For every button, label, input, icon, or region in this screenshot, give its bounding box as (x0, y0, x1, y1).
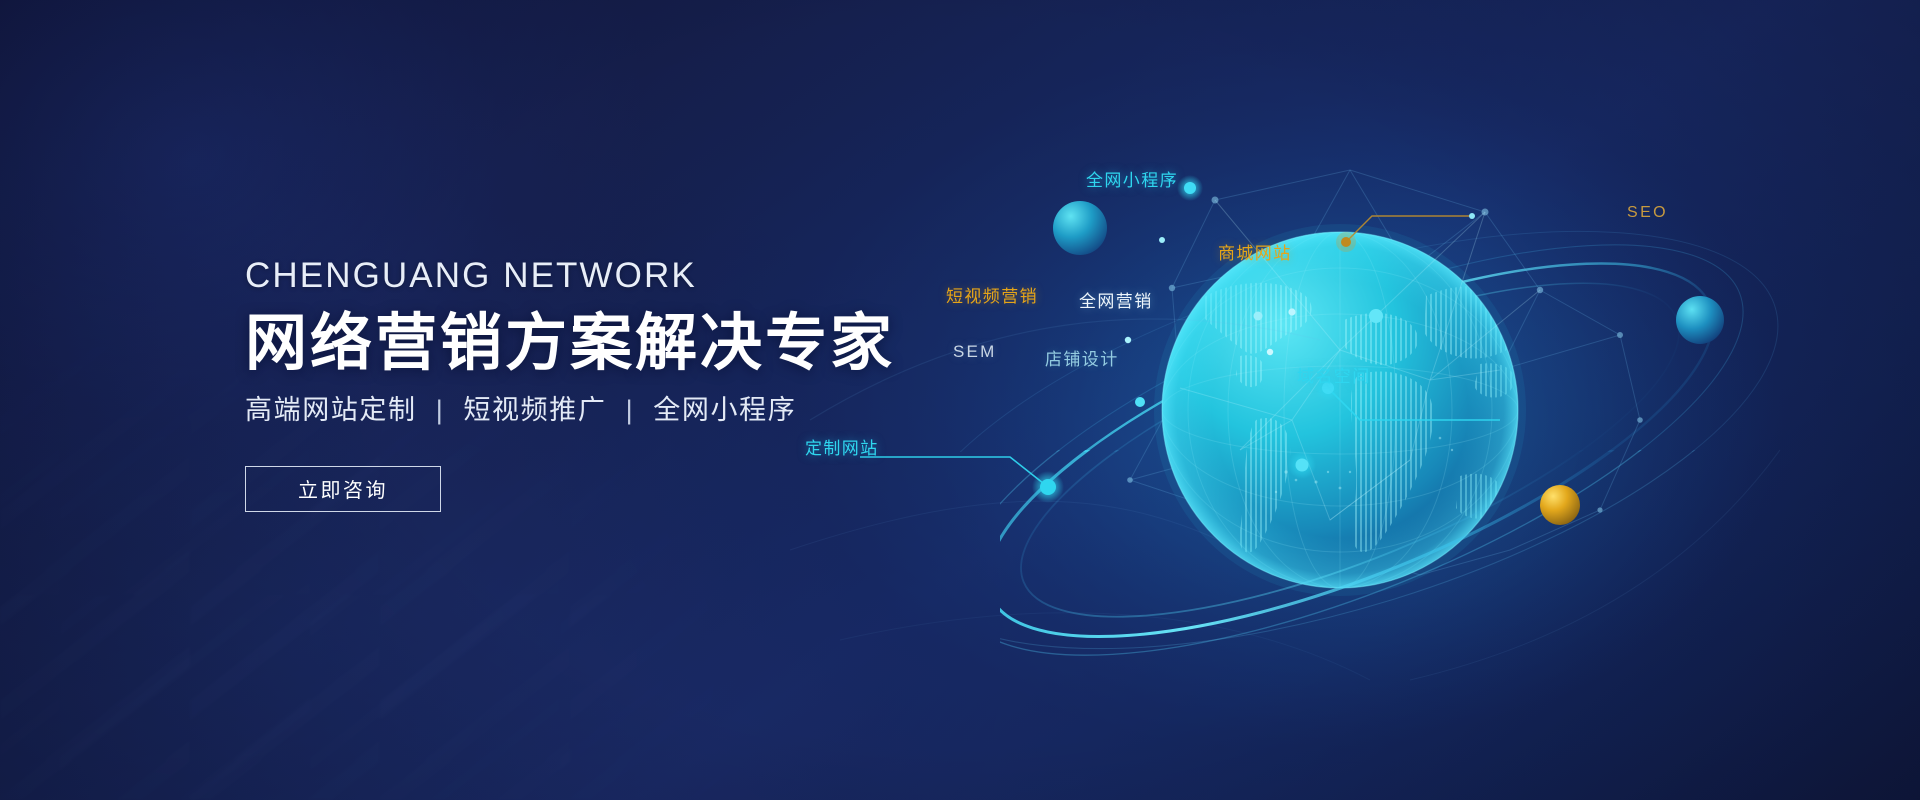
service-separator-0: | (426, 395, 455, 425)
mini-sphere-gold (1540, 485, 1580, 525)
globe-label-domain-space: 域名空间 (1297, 368, 1371, 385)
globe-label-miniprogram: 全网小程序 (1086, 172, 1178, 189)
service-item-0: 高端网站定制 (245, 395, 417, 425)
globe-label-seo: SEO (1627, 205, 1668, 221)
globe-illustration (940, 120, 1800, 720)
mini-sphere-left (1053, 201, 1107, 255)
service-item-2: 全网小程序 (653, 395, 796, 425)
brand-eyebrow: CHENGUANG NETWORK (245, 258, 1005, 293)
service-list: 高端网站定制 | 短视频推广 | 全网小程序 (245, 397, 1005, 424)
globe-label-omni-channel: 全网营销 (1079, 293, 1153, 310)
service-separator-1: | (616, 395, 645, 425)
globe-label-mall-site: 商城网站 (1218, 245, 1292, 262)
globe-label-shop-design: 店铺设计 (1045, 351, 1119, 368)
mini-sphere-right (1676, 296, 1724, 344)
consult-now-button[interactable]: 立即咨询 (245, 466, 441, 512)
page-title: 网络营销方案解决专家 (245, 311, 1005, 377)
hero-copy: CHENGUANG NETWORK 网络营销方案解决专家 高端网站定制 | 短视… (245, 258, 1005, 512)
service-item-1: 短视频推广 (463, 395, 606, 425)
hero-banner: CHENGUANG NETWORK 网络营销方案解决专家 高端网站定制 | 短视… (0, 0, 1920, 800)
